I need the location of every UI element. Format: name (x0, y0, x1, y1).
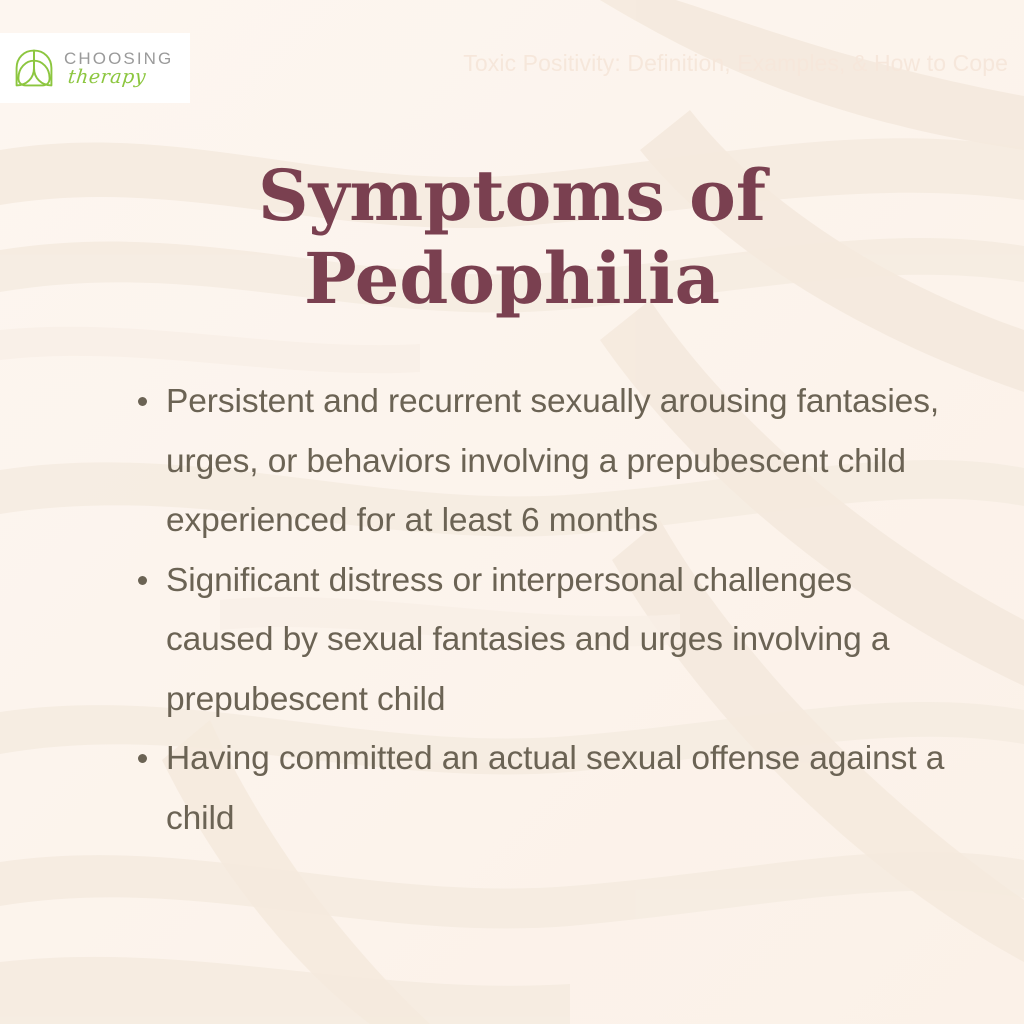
list-item-text: Persistent and recurrent sexually arousi… (166, 383, 939, 539)
logo-primary-text: CHOOSING (64, 50, 173, 67)
logo-wordmark: CHOOSING therapy (64, 50, 173, 87)
article-header-title: Toxic Positivity: Definition, Examples, … (463, 50, 1008, 77)
page-title-line-2: Pedophilia (0, 238, 1024, 321)
list-item: Having committed an actual sexual offens… (128, 729, 948, 848)
bullet-dot-icon (138, 397, 147, 406)
page-title: Symptoms of Pedophilia (0, 155, 1024, 320)
page-title-line-1: Symptoms of (0, 155, 1024, 238)
list-item-text: Significant distress or interpersonal ch… (166, 562, 889, 718)
logo-script-text: therapy (67, 68, 174, 87)
leaf-lotus-mark (12, 46, 56, 90)
brand-logo[interactable]: CHOOSING therapy (0, 33, 190, 103)
symptom-list: Persistent and recurrent sexually arousi… (128, 372, 948, 848)
list-item: Persistent and recurrent sexually arousi… (128, 372, 948, 551)
list-item-text: Having committed an actual sexual offens… (166, 740, 944, 837)
bullet-dot-icon (138, 754, 147, 763)
bullet-dot-icon (138, 576, 147, 585)
list-item: Significant distress or interpersonal ch… (128, 551, 948, 730)
